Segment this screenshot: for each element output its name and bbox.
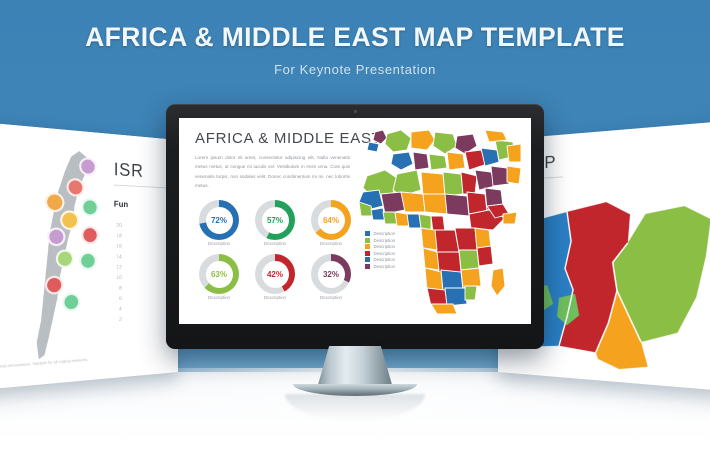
legend-item[interactable]: Description	[365, 244, 395, 249]
donut-item[interactable]: 72% Description	[191, 200, 247, 246]
donut-value: 57%	[267, 216, 283, 225]
monitor-screen[interactable]: AFRICA & MIDDLE EAST Lorem ipsum dolor s…	[179, 118, 531, 324]
page-title: AFRICA & MIDDLE EAST MAP TEMPLATE	[0, 22, 710, 53]
axis-tick: 18	[108, 233, 122, 240]
donut-item[interactable]: 32% Description	[303, 254, 359, 300]
left-slide[interactable]: ISR Fun 20 18 16 14 12 10 8 6 4 2	[0, 121, 178, 390]
kenya-map[interactable]	[520, 172, 710, 379]
legend-swatch	[365, 231, 370, 236]
axis-tick: 2	[108, 317, 122, 324]
axis-tick: 6	[108, 296, 122, 303]
monitor[interactable]: AFRICA & MIDDLE EAST Lorem ipsum dolor s…	[166, 104, 544, 349]
donut-value: 63%	[211, 270, 227, 279]
map-marker[interactable]	[79, 157, 97, 176]
donut-label: Description	[191, 241, 247, 246]
axis-tick: 8	[108, 285, 122, 292]
map-marker[interactable]	[67, 178, 85, 197]
axis-tick: 20	[108, 222, 122, 229]
poster-stage: AFRICA & MIDDLE EAST MAP TEMPLATE For Ke…	[0, 0, 710, 473]
legend-label: Description	[374, 244, 396, 249]
left-slide-section-label: Fun	[114, 199, 128, 209]
donut-label: Description	[303, 295, 359, 300]
legend-item[interactable]: Description	[365, 238, 395, 243]
donut-item[interactable]: 42% Description	[247, 254, 303, 300]
donut-item[interactable]: 64% Description	[303, 200, 359, 246]
donut-label: Description	[303, 241, 359, 246]
axis-tick: 12	[108, 264, 122, 270]
page-subtitle: For Keynote Presentation	[0, 62, 710, 77]
camera-icon	[354, 110, 357, 113]
axis-tick: 10	[108, 275, 122, 282]
legend-label: Description	[374, 264, 396, 269]
donut-item[interactable]: 63% Description	[191, 254, 247, 300]
map-marker[interactable]	[81, 198, 98, 217]
map-marker[interactable]	[79, 252, 97, 270]
legend-swatch	[365, 244, 370, 249]
slide-title: AFRICA & MIDDLE EAST	[195, 130, 382, 147]
axis-tick: 4	[108, 306, 122, 313]
legend-swatch	[365, 257, 370, 262]
map-marker[interactable]	[56, 249, 74, 268]
donut-value: 64%	[323, 216, 339, 225]
legend-item[interactable]: Description	[365, 251, 395, 256]
legend-swatch	[365, 264, 370, 269]
donut-value: 32%	[323, 270, 339, 279]
africa-middle-east-map[interactable]	[357, 128, 523, 314]
donut-row: 72% Description 57% Description 64% Desc…	[191, 200, 359, 246]
donut-value: 42%	[267, 270, 283, 279]
legend-swatch	[365, 251, 370, 256]
legend-item[interactable]: Description	[365, 264, 395, 269]
map-legend: Description Description Description Desc…	[365, 231, 395, 271]
left-slide-rule	[114, 185, 171, 189]
donut-label: Description	[247, 241, 303, 246]
donut-chart-grid: 72% Description 57% Description 64% Desc…	[191, 200, 359, 300]
left-slide-title: ISR	[114, 159, 144, 182]
monitor-stand-neck	[317, 346, 393, 388]
donut-row: 63% Description 42% Description 32% Desc…	[191, 254, 359, 300]
donut-label: Description	[247, 295, 303, 300]
map-marker[interactable]	[45, 192, 64, 212]
donut-label: Description	[191, 295, 247, 300]
map-marker[interactable]	[81, 226, 98, 244]
donut-value: 72%	[211, 216, 227, 225]
legend-label: Description	[374, 231, 396, 236]
legend-label: Description	[374, 238, 396, 243]
map-marker[interactable]	[60, 210, 79, 230]
legend-swatch	[365, 238, 370, 243]
legend-label: Description	[374, 257, 396, 262]
legend-label: Description	[374, 251, 396, 256]
slide-body-text: Lorem ipsum dolor sit amet, consectetur …	[195, 153, 350, 191]
axis-tick: 14	[108, 254, 122, 260]
map-marker[interactable]	[47, 227, 65, 246]
axis-tick: 16	[108, 243, 122, 249]
donut-item[interactable]: 57% Description	[247, 200, 303, 246]
legend-item[interactable]: Description	[365, 257, 395, 262]
legend-item[interactable]: Description	[365, 231, 395, 236]
